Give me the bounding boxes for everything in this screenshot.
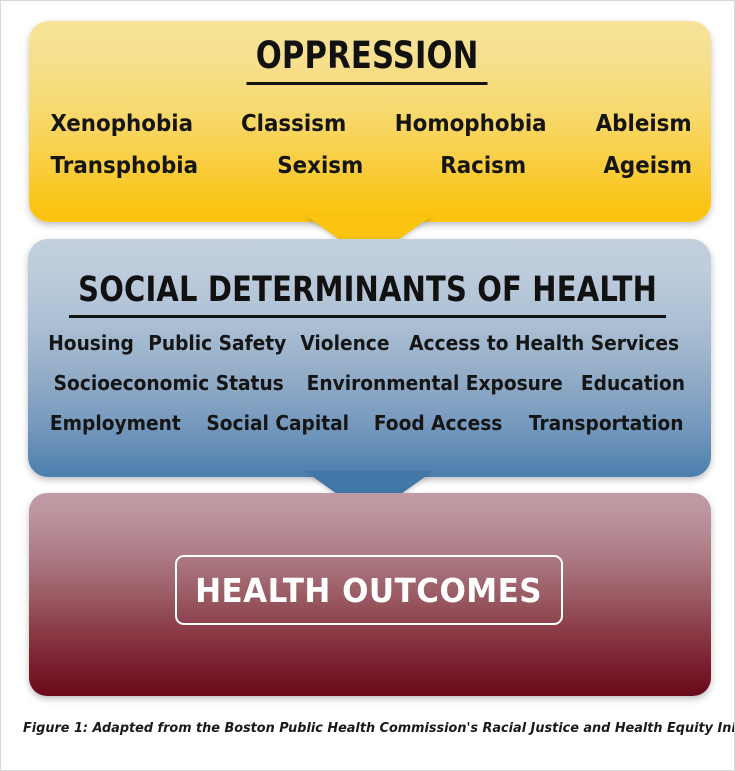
social-determinants-heading: SOCIAL DETERMINANTS OF HEALTH — [1, 270, 734, 318]
sdoh-item-housing: Housing — [48, 331, 134, 355]
oppression-item-sexism: Sexism — [277, 153, 363, 179]
oppression-item-classism: Classism — [241, 111, 346, 137]
figure-container: OPPRESSION Xenophobia Classism Homophobi… — [0, 0, 735, 771]
sdoh-item-socioeconomic-status: Socioeconomic Status — [54, 371, 284, 395]
sdoh-item-food-access: Food Access — [374, 411, 503, 435]
sdoh-item-education: Education — [581, 371, 685, 395]
oppression-item-homophobia: Homophobia — [395, 111, 547, 137]
sdoh-item-transportation: Transportation — [528, 411, 683, 435]
sdoh-row-1: Housing Public Safety Violence Access to… — [45, 331, 689, 355]
sdoh-item-social-capital: Social Capital — [206, 411, 349, 435]
oppression-row-1: Xenophobia Classism Homophobia Ableism — [45, 111, 695, 137]
sdoh-item-violence: Violence — [300, 331, 389, 355]
oppression-item-racism: Racism — [440, 153, 526, 179]
oppression-heading: OPPRESSION — [1, 34, 734, 85]
sdoh-item-access-to-health-services: Access to Health Services — [409, 331, 679, 355]
oppression-item-ableism: Ableism — [595, 111, 691, 137]
health-outcomes-label: HEALTH OUTCOMES — [195, 571, 542, 610]
sdoh-row-2: Socioeconomic Status Environmental Expos… — [45, 371, 689, 395]
sdoh-row-3: Employment Social Capital Food Access Tr… — [45, 411, 689, 435]
oppression-heading-text: OPPRESSION — [247, 34, 488, 85]
sdoh-item-employment: Employment — [50, 411, 181, 435]
social-determinants-heading-text: SOCIAL DETERMINANTS OF HEALTH — [69, 270, 666, 318]
sdoh-item-environmental-exposure: Environmental Exposure — [307, 371, 563, 395]
oppression-item-ageism: Ageism — [603, 153, 692, 179]
oppression-row-2: Transphobia Sexism Racism Ageism — [45, 153, 695, 179]
sdoh-item-public-safety: Public Safety — [148, 331, 286, 355]
figure-caption: Figure 1: Adapted from the Boston Public… — [23, 720, 679, 736]
health-outcomes-box: HEALTH OUTCOMES — [175, 555, 563, 625]
oppression-item-transphobia: Transphobia — [51, 153, 199, 179]
oppression-item-xenophobia: Xenophobia — [50, 111, 193, 137]
